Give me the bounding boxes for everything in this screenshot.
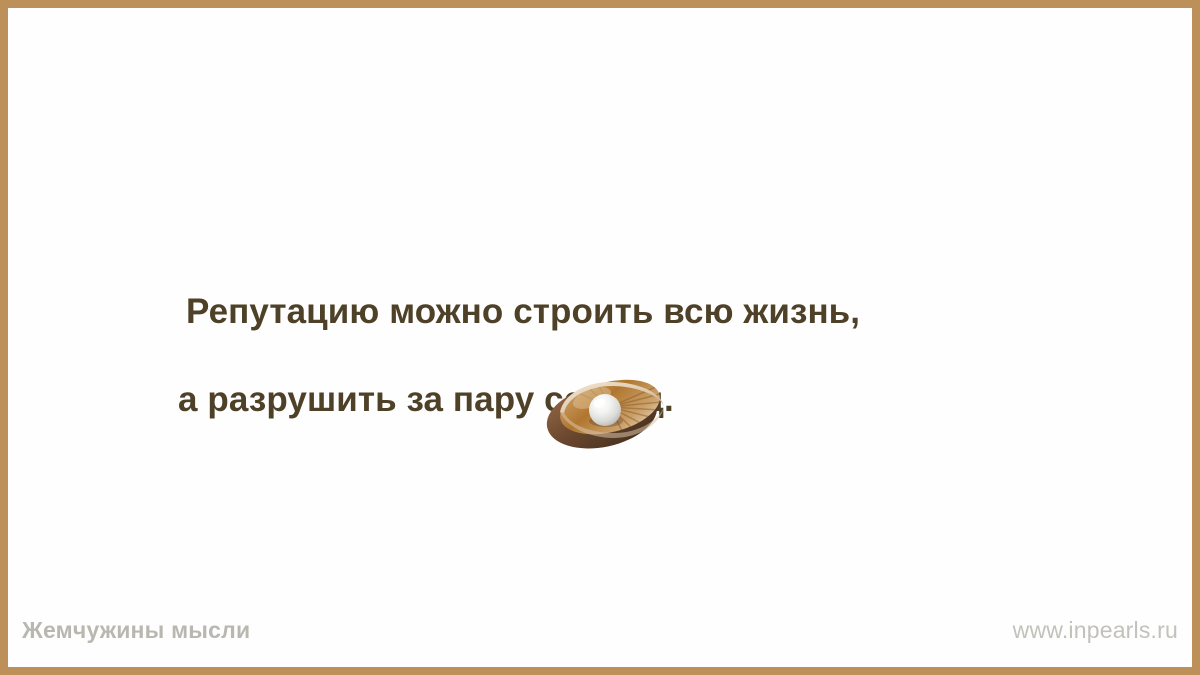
quote-card: Репутацию можно строить всю жизнь, а раз…: [0, 0, 1200, 675]
footer-site-url[interactable]: www.inpearls.ru: [1013, 617, 1178, 644]
pearl: [589, 394, 621, 426]
seashell-with-pearl-icon: [540, 376, 672, 450]
footer: Жемчужины мысли www.inpearls.ru: [8, 615, 1192, 645]
footer-brand: Жемчужины мысли: [22, 617, 250, 644]
quote-line-1: Репутацию можно строить всю жизнь,: [178, 290, 1078, 334]
